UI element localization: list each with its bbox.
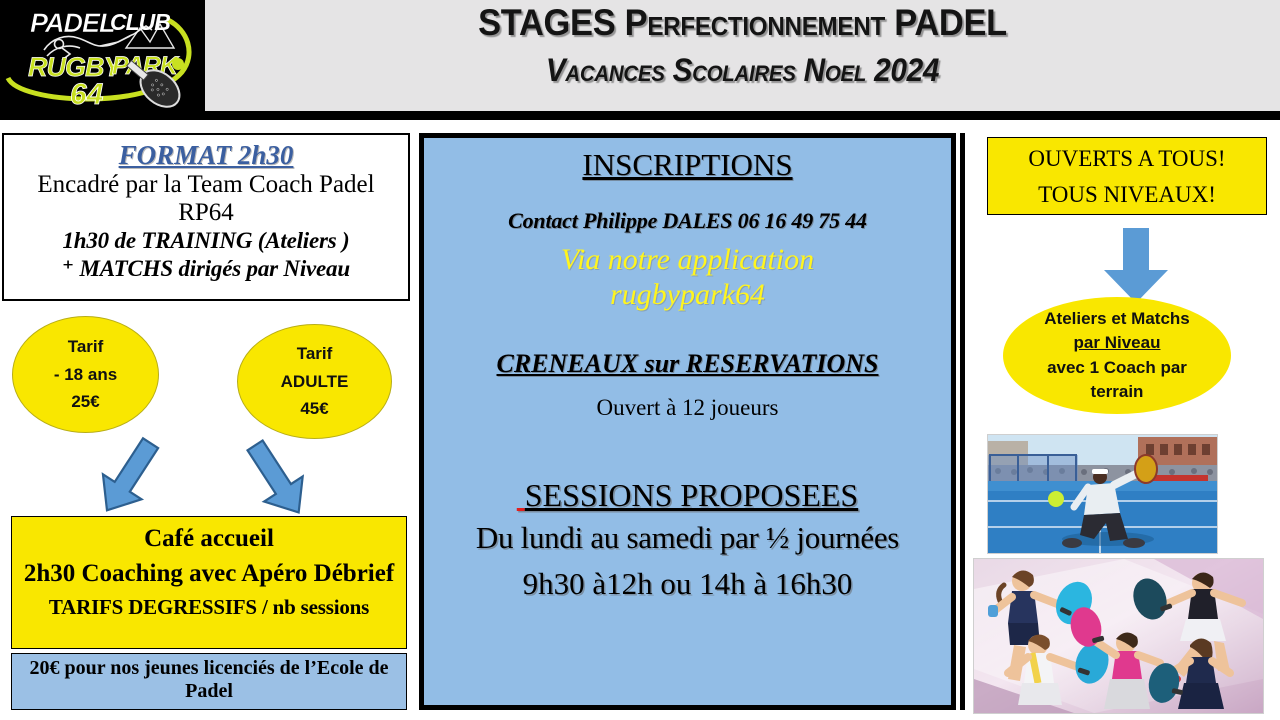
arrow-down-icon xyxy=(1092,228,1180,303)
ouverts-line-1: OUVERTS A TOUS! xyxy=(988,141,1266,177)
inscriptions-panel: INSCRIPTIONS Contact Philippe DALES 06 1… xyxy=(419,133,956,710)
format-coach-line: Encadré par la Team Coach Padel RP64 xyxy=(4,170,408,226)
price-adult-label: Tarif xyxy=(297,340,333,368)
page-title: STAGES Perfectionnement PADEL xyxy=(243,2,1243,44)
price-youth-detail: - 18 ans xyxy=(54,361,117,389)
price-adult-detail: ADULTE xyxy=(281,368,349,396)
price-bubble-youth: Tarif - 18 ans 25€ xyxy=(12,316,159,433)
svg-text:64: 64 xyxy=(70,78,104,111)
cafe-coaching-line: 2h30 Coaching avec Apéro Débrief xyxy=(12,556,406,587)
cafe-accueil-box: Café accueil 2h30 Coaching avec Apéro Dé… xyxy=(11,516,407,649)
app-line-2: rugbypark64 xyxy=(424,277,951,312)
svg-text:PADEL: PADEL xyxy=(30,8,115,38)
ouverts-line-2: TOUS NIVEAUX! xyxy=(988,177,1266,213)
format-training-line: 1h30 de TRAINING (Ateliers ) xyxy=(4,226,408,254)
club-logo: PADEL CLUB RUGBY PARK 64 PADEL CLUB RUG xyxy=(0,0,205,113)
sessions-proposees-heading: SESSIONS PROPOSEES xyxy=(424,477,951,514)
price-bubble-adult: Tarif ADULTE 45€ xyxy=(237,324,392,439)
ecole-padel-box: 20€ pour nos jeunes licenciés de l’Ecole… xyxy=(11,653,407,710)
page-header: PADEL CLUB RUGBY PARK 64 PADEL CLUB RUG xyxy=(0,0,1280,120)
sessions-days-line: Du lundi au samedi par ½ journées xyxy=(424,520,951,556)
cafe-tarifs-line: TARIFS DEGRESSIFS / nb sessions xyxy=(12,587,406,620)
format-title: FORMAT 2h30 xyxy=(4,140,408,170)
photo-women-players xyxy=(973,558,1264,714)
creneaux-line: CRENEAUX sur RESERVATIONS xyxy=(424,349,951,379)
panel-right-edge xyxy=(960,133,965,710)
format-matchs-line: ⁺ MATCHS dirigés par Niveau xyxy=(4,254,408,282)
sessions-hours-line: 9h30 à12h ou 14h à 16h30 xyxy=(424,566,951,602)
page-subtitle: Vacances Scolaires Noel 2024 xyxy=(243,52,1243,89)
app-line-1: Via notre application xyxy=(424,242,951,277)
niveau-line-1: Ateliers et Matchs xyxy=(1044,307,1190,331)
niveau-line-2: par Niveau xyxy=(1074,331,1161,355)
price-adult-amount: 45€ xyxy=(300,395,328,423)
sessions-red-underline-lead xyxy=(517,477,525,513)
header-divider xyxy=(0,111,1280,120)
sessions-proposees-text: SESSIONS PROPOSEES xyxy=(525,477,858,513)
price-youth-amount: 25€ xyxy=(71,388,99,416)
ouvert-joueurs-line: Ouvert à 12 joueurs xyxy=(424,395,951,421)
niveau-line-4: terrain xyxy=(1091,380,1144,404)
contact-line: Contact Philippe DALES 06 16 49 75 44 xyxy=(424,208,951,234)
inscriptions-title: INSCRIPTIONS xyxy=(424,147,951,183)
svg-text:CLUB: CLUB xyxy=(110,9,170,35)
photo-padel-court xyxy=(987,434,1218,554)
price-youth-label: Tarif xyxy=(68,333,104,361)
cafe-title: Café accueil xyxy=(12,523,406,556)
ecole-padel-text: 20€ pour nos jeunes licenciés de l’Ecole… xyxy=(12,657,406,703)
niveau-line-3: avec 1 Coach par xyxy=(1047,356,1187,380)
niveau-bubble: Ateliers et Matchs par Niveau avec 1 Coa… xyxy=(1003,297,1231,414)
ouverts-a-tous-box: OUVERTS A TOUS! TOUS NIVEAUX! xyxy=(987,137,1267,215)
format-info-box: FORMAT 2h30 Encadré par la Team Coach Pa… xyxy=(2,133,410,301)
arrow-down-right-icon xyxy=(86,432,176,522)
arrow-down-left-icon xyxy=(233,432,323,522)
header-title-bar: STAGES Perfectionnement PADEL Vacances S… xyxy=(205,0,1280,113)
logo-graphic: PADEL CLUB RUGBY PARK 64 PADEL CLUB RUG xyxy=(0,0,205,113)
